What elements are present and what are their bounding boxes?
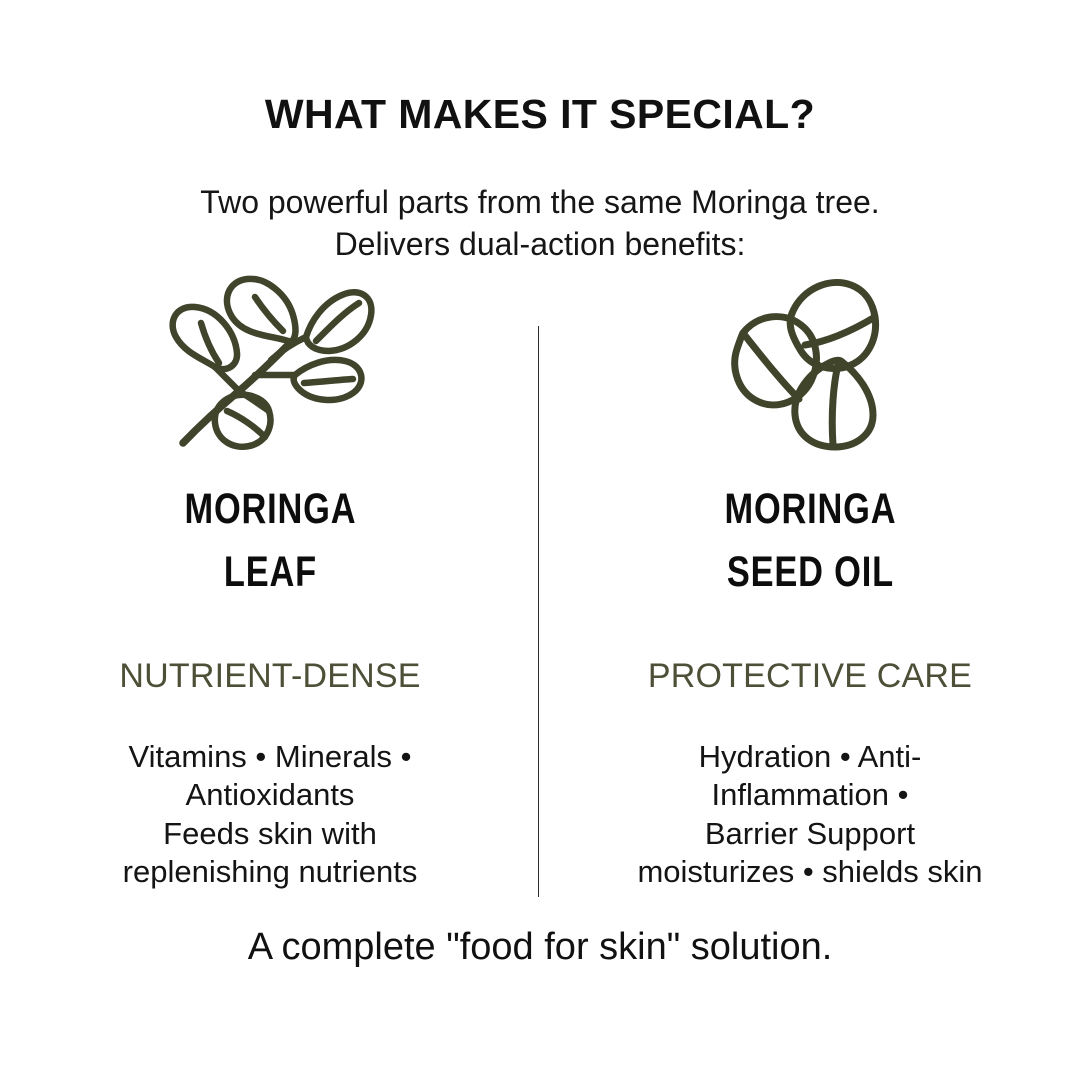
page-title: WHAT MAKES IT SPECIAL? [0,92,1080,138]
column-body-line-4: moisturizes • shields skin [637,853,982,891]
column-body-line-1: Vitamins • Minerals • [123,738,418,776]
column-title: MORINGA SEED OIL [724,462,896,604]
subtitle-line-1: Two powerful parts from the same Moringa… [0,182,1080,224]
column-tagline: PROTECTIVE CARE [648,604,972,697]
column-title-line-2: LEAF [184,541,356,604]
column-body: Vitamins • Minerals • Antioxidants Feeds… [123,696,418,891]
header-section: WHAT MAKES IT SPECIAL? Two powerful part… [0,92,1080,265]
column-moringa-leaf: MORINGA LEAF NUTRIENT-DENSE Vitamins • M… [0,262,540,891]
column-body-line-2: Inflammation • [637,776,982,814]
footer-section: A complete "food for skin" solution. [0,925,1080,971]
column-tagline: NUTRIENT-DENSE [119,604,420,697]
column-title-line-1: MORINGA [724,478,896,541]
column-body-line-2: Antioxidants [123,776,418,814]
column-moringa-seed-oil: MORINGA SEED OIL PROTECTIVE CARE Hydrati… [540,262,1080,891]
column-body-line-4: replenishing nutrients [123,853,418,891]
subtitle: Two powerful parts from the same Moringa… [0,138,1080,265]
column-body-line-1: Hydration • Anti- [637,738,982,776]
moringa-leaf-sprig-icon [163,262,378,462]
column-title: MORINGA LEAF [184,462,356,604]
column-body: Hydration • Anti- Inflammation • Barrier… [637,696,982,891]
column-title-line-1: MORINGA [184,478,356,541]
benefit-columns: MORINGA LEAF NUTRIENT-DENSE Vitamins • M… [0,262,1080,891]
subtitle-line-2: Delivers dual-action benefits: [0,224,1080,266]
moringa-seeds-icon [721,262,899,462]
infographic-card: WHAT MAKES IT SPECIAL? Two powerful part… [0,0,1080,1080]
column-body-line-3: Feeds skin with [123,815,418,853]
column-title-line-2: SEED OIL [724,541,896,604]
footer-tagline: A complete "food for skin" solution. [0,925,1080,971]
column-body-line-3: Barrier Support [637,815,982,853]
